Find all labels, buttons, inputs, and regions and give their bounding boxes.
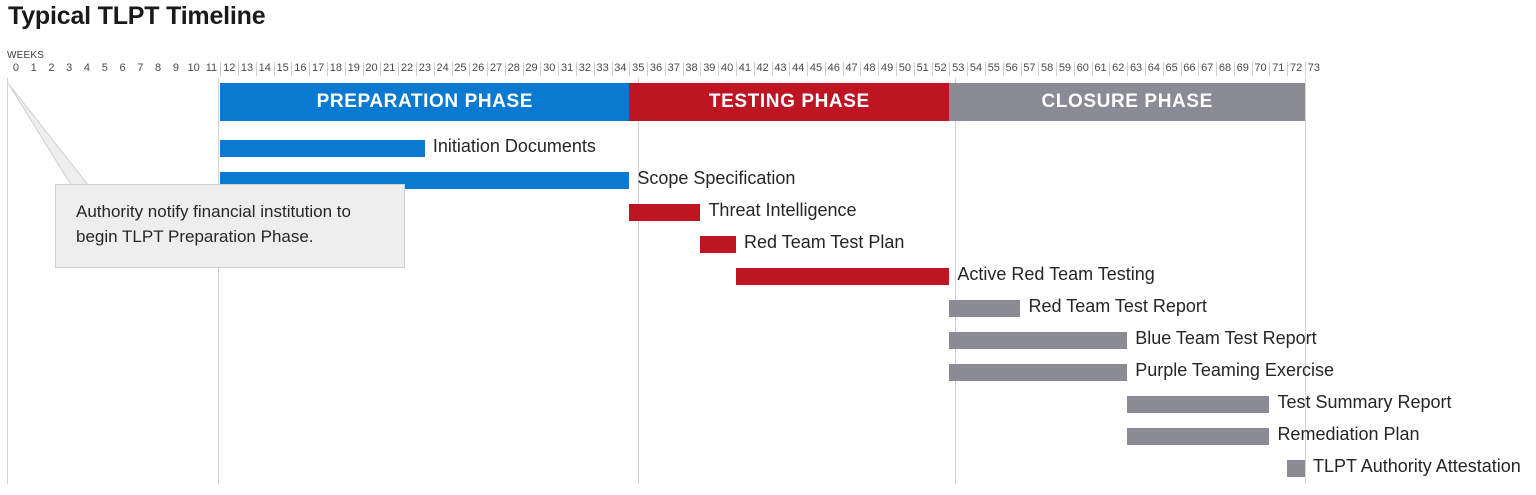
axis-tick-label: 34	[612, 61, 630, 76]
gridline-2	[638, 78, 639, 484]
axis-tick-59: 59	[1056, 61, 1074, 77]
task-label-initiation-documents: Initiation Documents	[433, 138, 596, 155]
task-bar-red-team-test-plan[interactable]	[700, 236, 736, 253]
axis-tick-48: 48	[860, 61, 878, 77]
gridline-0	[7, 78, 8, 484]
axis-tick-5: 5	[96, 61, 114, 77]
axis-tick-label: 44	[789, 61, 807, 76]
callout-text: Authority notify financial institution t…	[76, 199, 384, 249]
axis-tick-label: 59	[1056, 61, 1074, 76]
axis-tick-label: 58	[1038, 61, 1056, 76]
axis-tick-label: 32	[576, 61, 594, 76]
axis-tick-32: 32	[576, 61, 594, 77]
axis-tick-label: 43	[772, 61, 790, 76]
axis-tick-label: 0	[7, 61, 25, 76]
axis-tick-34: 34	[612, 61, 630, 77]
task-label-test-summary-report: Test Summary Report	[1277, 394, 1451, 411]
axis-tick-label: 31	[558, 61, 576, 76]
axis-tick-70: 70	[1252, 61, 1270, 77]
axis-tick-label: 36	[647, 61, 665, 76]
axis-tick-36: 36	[647, 61, 665, 77]
axis-tick-61: 61	[1092, 61, 1110, 77]
axis-tick-label: 66	[1181, 61, 1199, 76]
task-label-tlpt-authority-attestation: TLPT Authority Attestation	[1313, 458, 1521, 475]
axis-tick-60: 60	[1074, 61, 1092, 77]
phase-label: PREPARATION PHASE	[317, 91, 533, 113]
axis-tick-73: 73	[1305, 61, 1323, 77]
axis-tick-label: 42	[754, 61, 772, 76]
testing-phase[interactable]: TESTING PHASE	[629, 83, 949, 121]
axis-tick-label: 28	[505, 61, 523, 76]
axis-tick-21: 21	[380, 61, 398, 77]
axis-tick-22: 22	[398, 61, 416, 77]
callout-box: Authority notify financial institution t…	[55, 184, 405, 268]
axis-tick-9: 9	[167, 61, 185, 77]
axis-tick-51: 51	[914, 61, 932, 77]
axis-tick-62: 62	[1109, 61, 1127, 77]
preparation-phase[interactable]: PREPARATION PHASE	[220, 83, 629, 121]
axis-tick-label: 62	[1109, 61, 1127, 76]
axis-tick-label: 16	[291, 61, 309, 76]
axis-tick-40: 40	[718, 61, 736, 77]
axis-tick-label: 46	[825, 61, 843, 76]
axis-tick-28: 28	[505, 61, 523, 77]
axis-tick-label: 5	[96, 61, 114, 76]
axis-tick-58: 58	[1038, 61, 1056, 77]
gridline-1	[218, 78, 219, 484]
axis-tick-label: 72	[1287, 61, 1305, 76]
axis-tick-label: 8	[149, 61, 167, 76]
axis-tick-23: 23	[416, 61, 434, 77]
axis-tick-27: 27	[487, 61, 505, 77]
axis-tick-label: 51	[914, 61, 932, 76]
axis-tick-label: 11	[203, 61, 221, 76]
axis-tick-label: 69	[1234, 61, 1252, 76]
axis-tick-label: 33	[594, 61, 612, 76]
axis-tick-label: 64	[1145, 61, 1163, 76]
axis-tick-10: 10	[185, 61, 203, 77]
axis-tick-50: 50	[896, 61, 914, 77]
axis-tick-label: 2	[43, 61, 61, 76]
axis-tick-label: 40	[718, 61, 736, 76]
axis-tick-38: 38	[683, 61, 701, 77]
plot-area: PREPARATION PHASETESTING PHASECLOSURE PH…	[0, 78, 1536, 495]
axis-tick-label: 18	[327, 61, 345, 76]
axis-tick-1: 1	[25, 61, 43, 77]
task-label-active-red-team-testing: Active Red Team Testing	[957, 266, 1154, 283]
axis-tick-43: 43	[772, 61, 790, 77]
axis-tick-label: 6	[114, 61, 132, 76]
phase-label: CLOSURE PHASE	[1041, 91, 1212, 113]
axis-tick-label: 26	[469, 61, 487, 76]
task-bar-test-summary-report[interactable]	[1127, 396, 1269, 413]
axis-tick-65: 65	[1163, 61, 1181, 77]
axis-tick-label: 13	[238, 61, 256, 76]
axis-tick-69: 69	[1234, 61, 1252, 77]
axis-tick-31: 31	[558, 61, 576, 77]
task-bar-threat-intelligence[interactable]	[629, 204, 700, 221]
axis-tick-label: 49	[878, 61, 896, 76]
axis-tick-56: 56	[1003, 61, 1021, 77]
axis-tick-label: 35	[629, 61, 647, 76]
axis-tick-label: 17	[309, 61, 327, 76]
axis-tick-label: 37	[665, 61, 683, 76]
axis-tick-30: 30	[540, 61, 558, 77]
axis-tick-35: 35	[629, 61, 647, 77]
task-bar-red-team-test-report[interactable]	[949, 300, 1020, 317]
axis-tick-12: 12	[220, 61, 238, 77]
axis-tick-label: 61	[1092, 61, 1110, 76]
axis-tick-label: 56	[1003, 61, 1021, 76]
axis-tick-label: 47	[843, 61, 861, 76]
axis-tick-label: 7	[131, 61, 149, 76]
axis-tick-20: 20	[363, 61, 381, 77]
axis-tick-label: 25	[452, 61, 470, 76]
axis-tick-label: 39	[700, 61, 718, 76]
axis-tick-41: 41	[736, 61, 754, 77]
axis-tick-44: 44	[789, 61, 807, 77]
axis-tick-47: 47	[843, 61, 861, 77]
axis-tick-46: 46	[825, 61, 843, 77]
axis-tick-6: 6	[114, 61, 132, 77]
axis-tick-39: 39	[700, 61, 718, 77]
task-bar-remediation-plan[interactable]	[1127, 428, 1269, 445]
axis-tick-13: 13	[238, 61, 256, 77]
axis-tick-label: 30	[540, 61, 558, 76]
axis-tick-label: 55	[985, 61, 1003, 76]
axis-tick-label: 23	[416, 61, 434, 76]
axis-tick-label: 48	[860, 61, 878, 76]
axis-tick-label: 41	[736, 61, 754, 76]
axis-tick-label: 19	[345, 61, 363, 76]
axis-tick-label: 67	[1198, 61, 1216, 76]
axis-tick-15: 15	[274, 61, 292, 77]
axis-tick-label: 73	[1305, 61, 1323, 76]
axis-tick-label: 45	[807, 61, 825, 76]
axis-tick-42: 42	[754, 61, 772, 77]
axis-tick-label: 50	[896, 61, 914, 76]
axis-tick-3: 3	[60, 61, 78, 77]
task-label-remediation-plan: Remediation Plan	[1277, 426, 1419, 443]
phase-label: TESTING PHASE	[709, 91, 870, 113]
axis-tick-54: 54	[967, 61, 985, 77]
axis-tick-14: 14	[256, 61, 274, 77]
task-label-threat-intelligence: Threat Intelligence	[708, 202, 856, 219]
task-label-purple-teaming-exercise: Purple Teaming Exercise	[1135, 362, 1334, 379]
axis-tick-63: 63	[1127, 61, 1145, 77]
axis-tick-57: 57	[1021, 61, 1039, 77]
axis-tick-33: 33	[594, 61, 612, 77]
axis-tick-11: 11	[203, 61, 221, 77]
task-label-scope-specification: Scope Specification	[637, 170, 795, 187]
axis-tick-52: 52	[932, 61, 950, 77]
axis-tick-label: 68	[1216, 61, 1234, 76]
axis-tick-8: 8	[149, 61, 167, 77]
axis-tick-label: 29	[523, 61, 541, 76]
axis-tick-0: 0	[7, 61, 25, 77]
axis-tick-label: 27	[487, 61, 505, 76]
axis-tick-66: 66	[1181, 61, 1199, 77]
axis-tick-label: 14	[256, 61, 274, 76]
page-title: Typical TLPT Timeline	[8, 2, 265, 31]
axis-tick-label: 4	[78, 61, 96, 76]
axis-tick-label: 63	[1127, 61, 1145, 76]
closure-phase[interactable]: CLOSURE PHASE	[949, 83, 1305, 121]
task-bar-initiation-documents[interactable]	[220, 140, 424, 157]
gantt-chart-page: Typical TLPT Timeline WEEKS 012345678910…	[0, 0, 1536, 495]
axis-tick-19: 19	[345, 61, 363, 77]
axis-tick-7: 7	[131, 61, 149, 77]
axis-tick-29: 29	[523, 61, 541, 77]
axis-tick-16: 16	[291, 61, 309, 77]
axis-tick-label: 20	[363, 61, 381, 76]
axis-tick-4: 4	[78, 61, 96, 77]
task-label-red-team-test-report: Red Team Test Report	[1029, 298, 1207, 315]
axis-tick-label: 12	[220, 61, 238, 76]
axis-tick-label: 71	[1269, 61, 1287, 76]
task-bar-active-red-team-testing[interactable]	[736, 268, 949, 285]
axis-tick-label: 24	[434, 61, 452, 76]
axis-tick-label: 70	[1252, 61, 1270, 76]
axis-tick-64: 64	[1145, 61, 1163, 77]
axis-tick-45: 45	[807, 61, 825, 77]
task-bar-blue-team-test-report[interactable]	[949, 332, 1127, 349]
axis-tick-26: 26	[469, 61, 487, 77]
axis-tick-68: 68	[1216, 61, 1234, 77]
axis-tick-25: 25	[452, 61, 470, 77]
axis-tick-label: 65	[1163, 61, 1181, 76]
axis-tick-label: 22	[398, 61, 416, 76]
axis-tick-55: 55	[985, 61, 1003, 77]
axis-tick-71: 71	[1269, 61, 1287, 77]
axis-tick-label: 53	[949, 61, 967, 76]
axis-tick-label: 10	[185, 61, 203, 76]
gridline-3	[955, 78, 956, 484]
task-bar-tlpt-authority-attestation[interactable]	[1287, 460, 1305, 477]
axis-tick-label: 54	[967, 61, 985, 76]
axis-tick-2: 2	[43, 61, 61, 77]
axis-tick-label: 52	[932, 61, 950, 76]
axis-units-label: WEEKS	[7, 50, 44, 61]
task-label-blue-team-test-report: Blue Team Test Report	[1135, 330, 1316, 347]
axis-tick-24: 24	[434, 61, 452, 77]
axis-tick-53: 53	[949, 61, 967, 77]
axis-tick-label: 9	[167, 61, 185, 76]
axis-tick-label: 38	[683, 61, 701, 76]
axis-tick-label: 60	[1074, 61, 1092, 76]
axis-tick-label: 1	[25, 61, 43, 76]
axis-tick-67: 67	[1198, 61, 1216, 77]
task-bar-purple-teaming-exercise[interactable]	[949, 364, 1127, 381]
axis-tick-17: 17	[309, 61, 327, 77]
axis-tick-label: 57	[1021, 61, 1039, 76]
week-axis: 0123456789101112131415161718192021222324…	[7, 61, 1305, 77]
task-label-red-team-test-plan: Red Team Test Plan	[744, 234, 904, 251]
axis-tick-49: 49	[878, 61, 896, 77]
axis-tick-18: 18	[327, 61, 345, 77]
axis-tick-72: 72	[1287, 61, 1305, 77]
axis-tick-label: 21	[380, 61, 398, 76]
axis-tick-label: 15	[274, 61, 292, 76]
axis-tick-label: 3	[60, 61, 78, 76]
axis-tick-37: 37	[665, 61, 683, 77]
